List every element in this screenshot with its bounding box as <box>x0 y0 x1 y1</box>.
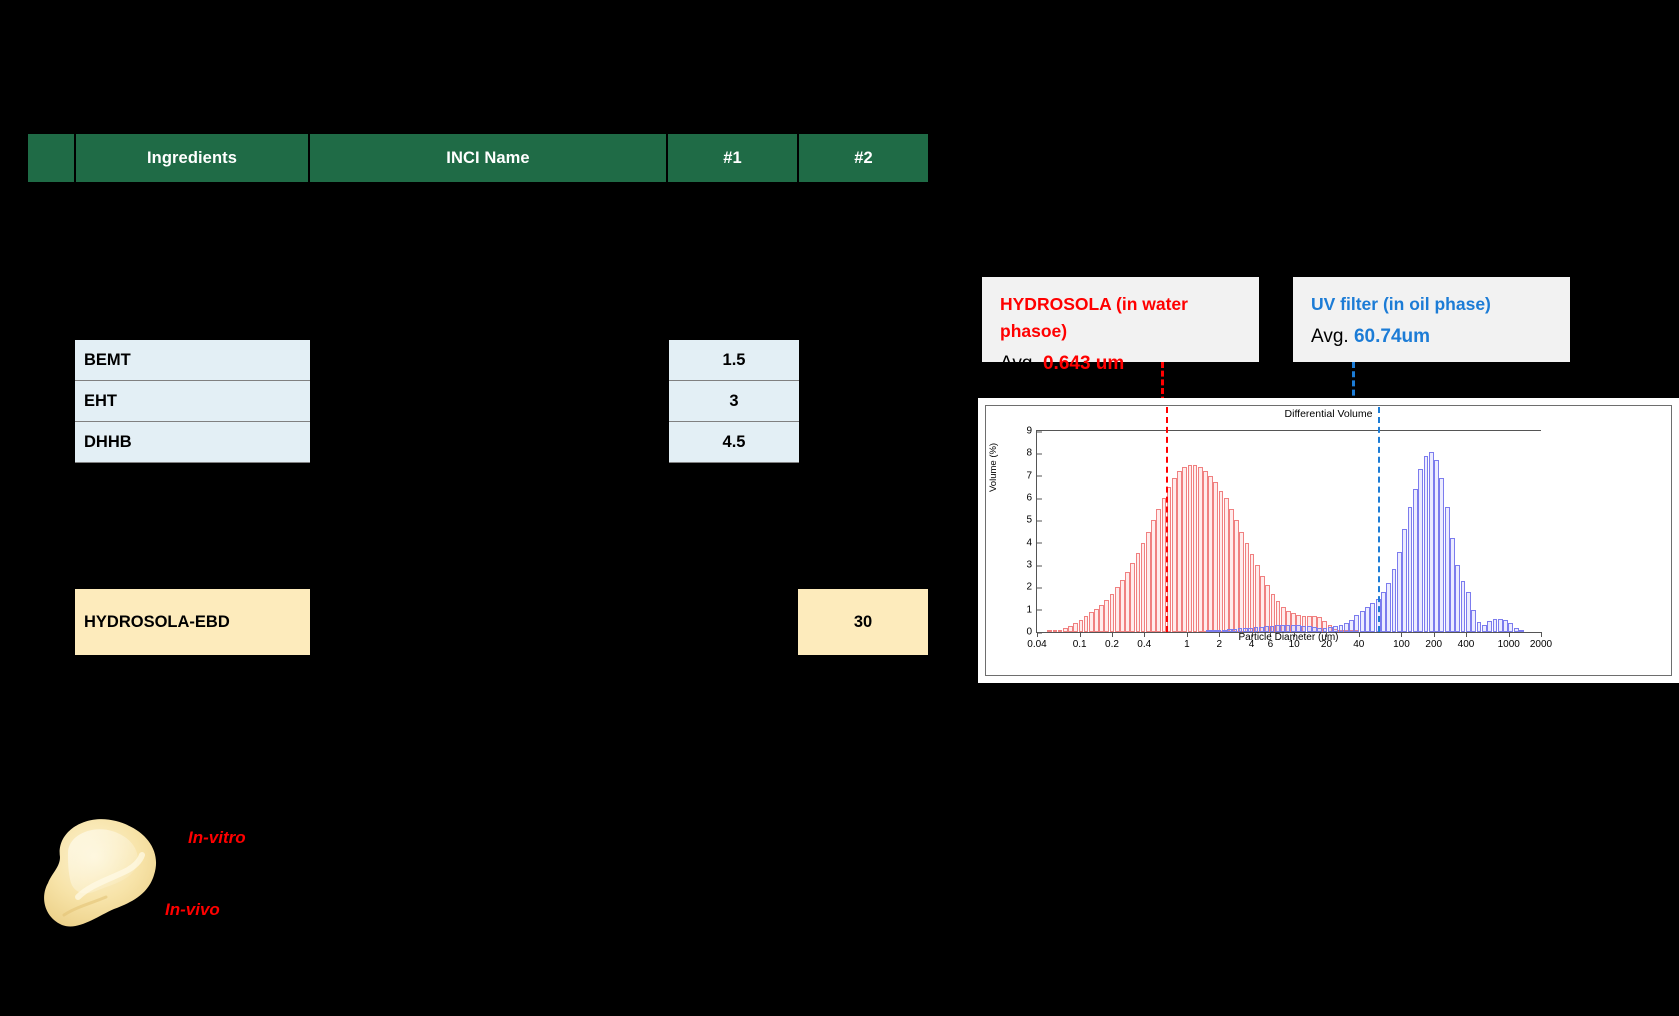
chart-y-tick: 7 <box>1026 470 1037 481</box>
chart-bar <box>1429 452 1434 632</box>
chart-x-axis-label: Particle Diameter (um) <box>1036 632 1541 643</box>
callout-hydrosola-avg-prefix: Avg. <box>1000 353 1043 374</box>
chart-bar <box>1079 620 1084 632</box>
chart-bar <box>1482 625 1487 632</box>
chart-y-tick: 8 <box>1026 448 1037 459</box>
chart-bar <box>1275 625 1280 632</box>
chart-bar <box>1365 607 1370 632</box>
table-cell-ingredient: EHT <box>75 381 310 422</box>
table-cell-ingredient-highlight: HYDROSOLA-EBD <box>75 589 310 655</box>
chart-bar <box>1381 592 1386 632</box>
callout-uv-filter-avg: Avg. 60.74um <box>1311 322 1552 351</box>
chart-bar <box>1434 460 1439 632</box>
chart-bar <box>1141 543 1146 632</box>
callout-uv-filter-avg-value: 60.74um <box>1354 326 1430 347</box>
chart-bar <box>1360 611 1365 632</box>
chart-bar <box>1151 520 1156 632</box>
chart-bar <box>1182 467 1187 632</box>
chart-bar <box>1439 478 1444 632</box>
chart-bar <box>1104 600 1109 632</box>
chart-bar <box>1188 465 1193 633</box>
callout-uv-filter: UV filter (in oil phase) Avg. 60.74um <box>1293 277 1570 362</box>
chart-bar <box>1115 587 1120 632</box>
chart-bar <box>1120 580 1125 632</box>
table-cell-value-2: 1.5 <box>669 340 799 381</box>
chart-bar <box>1094 609 1099 632</box>
table-header-ingredients: Ingredients <box>76 134 310 182</box>
slide-canvas: Ingredients INCI Name #1 #2 BEMT 1.5 EHT… <box>0 0 1679 1016</box>
chart-bar <box>1089 612 1094 632</box>
chart-bar <box>1291 625 1296 632</box>
table-cell-value-2: 3 <box>669 381 799 422</box>
chart-bar <box>1461 581 1466 632</box>
chart-bar <box>1198 467 1203 632</box>
chart-y-tick: 4 <box>1026 537 1037 548</box>
chart-bar <box>1455 565 1460 632</box>
chart-bar <box>1099 605 1104 632</box>
table-cell-value-2-highlight: 30 <box>798 589 928 655</box>
table-cell-value-2: 4.5 <box>669 422 799 463</box>
chart-bar <box>1418 469 1423 632</box>
chart-bar <box>1250 554 1255 632</box>
formulation-table-header: Ingredients INCI Name #1 #2 <box>28 134 928 182</box>
chart-bar <box>1471 610 1476 632</box>
chart-y-tick: 9 <box>1026 426 1037 437</box>
chart-bar <box>1260 576 1265 632</box>
chart-y-tick: 2 <box>1026 582 1037 593</box>
chart-bar <box>1392 569 1397 632</box>
chart-bar <box>1477 622 1482 632</box>
callout-hydrosola-title: HYDROSOLA (in water phasoe) <box>1000 291 1241 345</box>
chart-bar <box>1224 498 1229 632</box>
chart-bar <box>1498 619 1503 632</box>
callout-hydrosola-avg: Avg. 0.643 um <box>1000 349 1241 378</box>
particle-size-chart-panel: Differential Volume Volume (%) 012345678… <box>978 398 1679 683</box>
chart-bar <box>1413 489 1418 632</box>
chart-bar <box>1255 565 1260 632</box>
chart-bar <box>1146 532 1151 633</box>
chart-bar <box>1339 625 1344 632</box>
chart-inner-frame: Differential Volume Volume (%) 012345678… <box>985 405 1672 676</box>
chart-bar <box>1508 623 1513 632</box>
callout-uv-filter-avg-prefix: Avg. <box>1311 326 1354 347</box>
table-header-blank <box>28 134 76 182</box>
chart-y-axis-label: Volume (%) <box>988 443 999 492</box>
chart-bar <box>1386 583 1391 632</box>
chart-bar <box>1408 507 1413 632</box>
chart-bar <box>1493 619 1498 632</box>
chart-bar <box>1193 465 1198 633</box>
chart-bar <box>1450 538 1455 632</box>
chart-bar <box>1172 478 1177 632</box>
cream-swatch-illustration <box>38 805 178 940</box>
chart-bar <box>1424 456 1429 632</box>
chart-bar <box>1177 471 1182 632</box>
chart-bar <box>1397 552 1402 632</box>
table-cell-ingredient: BEMT <box>75 340 310 381</box>
table-header-inci-name: INCI Name <box>310 134 668 182</box>
chart-bar <box>1156 509 1161 632</box>
chart-y-tick: 5 <box>1026 515 1037 526</box>
chart-bar <box>1229 509 1234 632</box>
table-cell-ingredient: DHHB <box>75 422 310 463</box>
chart-plot-area: 01234567890.040.10.20.412461020401002004… <box>1036 430 1541 633</box>
chart-annotation-guideline <box>1378 407 1380 632</box>
chart-bar <box>1213 482 1218 632</box>
chart-bar <box>1354 615 1359 632</box>
in-vitro-label: In-vitro <box>188 828 246 848</box>
chart-bar <box>1136 553 1141 632</box>
chart-title: Differential Volume <box>986 408 1671 420</box>
chart-y-tick: 1 <box>1026 604 1037 615</box>
chart-bar <box>1503 620 1508 632</box>
chart-bar <box>1344 623 1349 632</box>
chart-bar <box>1349 620 1354 632</box>
chart-annotation-guideline <box>1166 407 1168 632</box>
chart-bar <box>1084 616 1089 632</box>
table-header-col-2: #2 <box>799 134 928 182</box>
chart-y-tick: 6 <box>1026 493 1037 504</box>
callout-hydrosola: HYDROSOLA (in water phasoe) Avg. 0.643 u… <box>982 277 1259 362</box>
chart-bar <box>1370 603 1375 632</box>
in-vivo-label: In-vivo <box>165 900 220 920</box>
chart-y-tick: 3 <box>1026 560 1037 571</box>
chart-bar <box>1203 471 1208 632</box>
chart-bar <box>1125 572 1130 632</box>
chart-x-tick-mark <box>1541 632 1542 637</box>
chart-bar <box>1245 543 1250 632</box>
chart-bar <box>1280 625 1285 632</box>
callout-uv-filter-title: UV filter (in oil phase) <box>1311 291 1552 318</box>
chart-bar <box>1445 507 1450 632</box>
chart-bar <box>1402 529 1407 632</box>
chart-bar <box>1130 563 1135 632</box>
chart-bar <box>1208 476 1213 632</box>
chart-bar <box>1239 532 1244 633</box>
chart-bar <box>1296 625 1301 632</box>
chart-bar <box>1285 625 1290 632</box>
chart-bar <box>1466 592 1471 632</box>
chart-bar <box>1487 621 1492 632</box>
chart-bar <box>1110 594 1115 632</box>
chart-bar <box>1073 623 1078 632</box>
chart-bar <box>1234 520 1239 632</box>
table-header-col-1: #1 <box>668 134 799 182</box>
callout-hydrosola-avg-value: 0.643 um <box>1043 353 1124 374</box>
chart-bar <box>1219 491 1224 632</box>
